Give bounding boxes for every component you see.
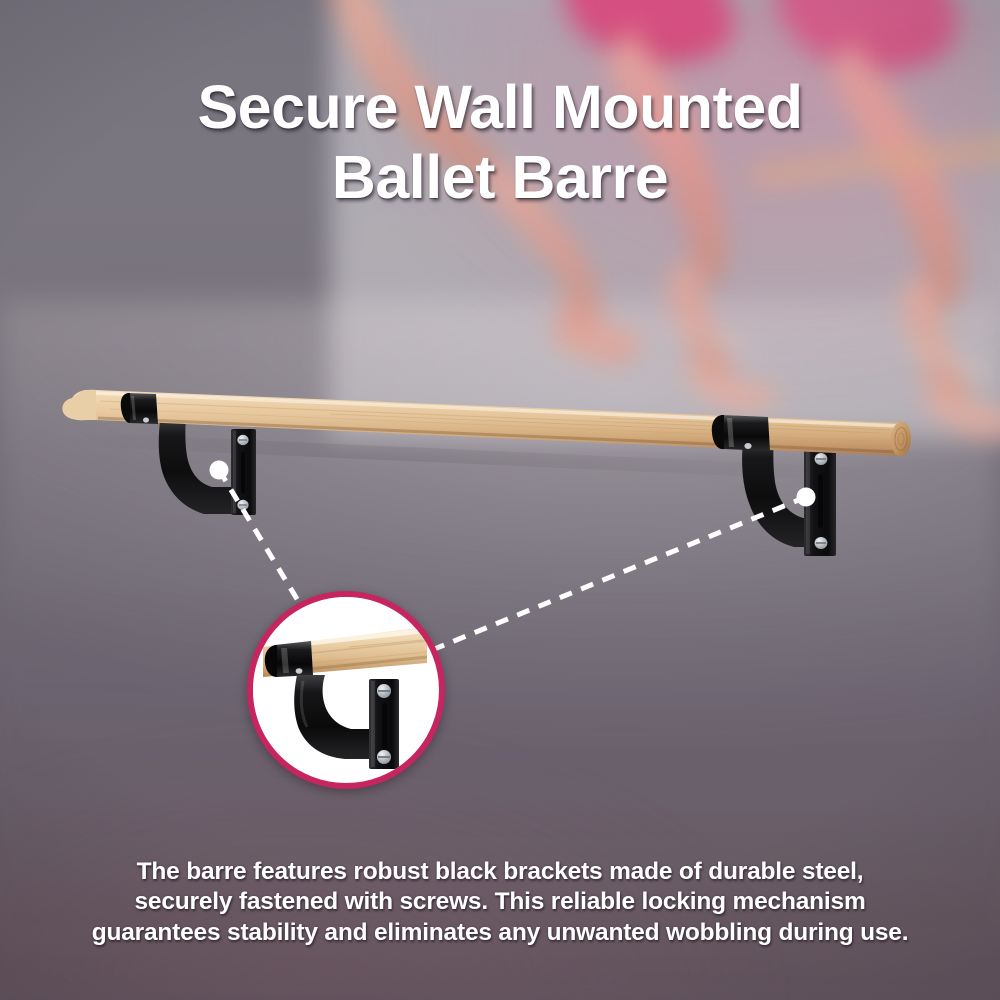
- product-image-canvas: Secure Wall Mounted Ballet Barre The bar…: [0, 0, 1000, 1000]
- product-illustration: [0, 0, 1000, 1000]
- anchor-dot-left: [210, 461, 229, 480]
- left-wall-bracket: [159, 418, 256, 515]
- right-wall-bracket: [742, 438, 836, 556]
- black-locking-collar-left: [121, 393, 158, 424]
- black-locking-collar-right: [712, 415, 770, 451]
- magnified-bracket-detail: [247, 591, 445, 789]
- zoom-wall-plate: [369, 679, 399, 769]
- anchor-dot-right: [797, 488, 816, 507]
- zoom-collar: [265, 641, 313, 677]
